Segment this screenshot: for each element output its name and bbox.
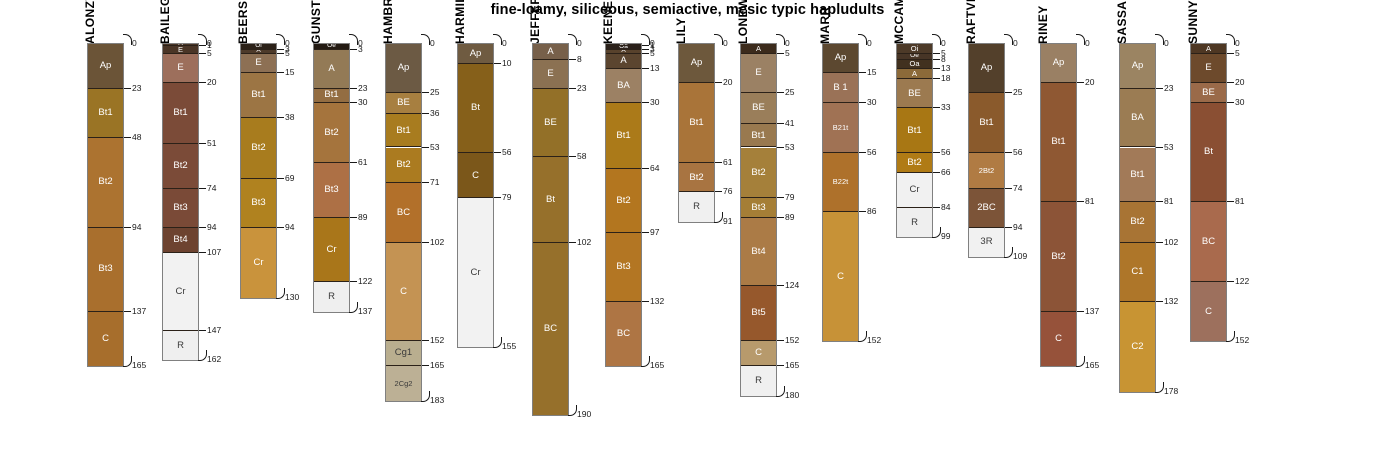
- soil-horizon: E: [241, 54, 276, 74]
- soil-horizon: Cr: [241, 228, 276, 298]
- profile-name-label: LONEWOOD: [736, 0, 750, 44]
- horizon-label: Bt3: [98, 264, 112, 274]
- depth-tick: [1004, 247, 1013, 258]
- horizon-label: Oa: [909, 60, 919, 68]
- depth-tick: [350, 281, 357, 282]
- depth-label: 94: [207, 223, 216, 232]
- depth-label: 152: [1235, 336, 1249, 345]
- horizon-label: BE: [544, 118, 557, 128]
- depth-tick: [494, 152, 501, 153]
- soil-horizon: Bt2: [1120, 202, 1155, 243]
- depth-tick: [1156, 242, 1163, 243]
- soil-horizon: A: [897, 69, 932, 79]
- horizon-label: Bt4: [173, 235, 187, 245]
- profile-bar: OeABt1Bt2Bt3CrR: [313, 43, 350, 313]
- depth-tick: [1156, 88, 1163, 89]
- horizon-label: BC: [544, 324, 557, 334]
- profile-name-label: SUNNYSIDE: [1186, 0, 1200, 44]
- depth-tick: [642, 232, 649, 233]
- soil-horizon: Bt1: [679, 83, 714, 163]
- depth-label: 81: [1235, 197, 1244, 206]
- soil-horizon: E: [533, 60, 568, 89]
- depth-label: 20: [723, 78, 732, 87]
- horizon-label: Bt1: [1051, 137, 1065, 147]
- depth-tick: [1077, 311, 1084, 312]
- profile-bar: ApB 1B21tB22tC: [822, 43, 859, 342]
- depth-label: 74: [1013, 184, 1022, 193]
- depth-label: 81: [1085, 197, 1094, 206]
- depth-tick: [199, 82, 206, 83]
- horizon-label: 3R: [980, 237, 992, 247]
- soil-horizon: Bt2: [606, 169, 641, 233]
- depth-label: 102: [1164, 238, 1178, 247]
- horizon-label: A: [328, 64, 334, 74]
- depth-label: 0: [577, 39, 582, 48]
- horizon-label: BE: [908, 89, 921, 99]
- soil-horizon: BE: [386, 93, 421, 114]
- depth-label: 5: [785, 49, 790, 58]
- horizon-label: Bt2: [251, 143, 265, 153]
- depth-label: 53: [430, 143, 439, 152]
- depth-tick: [933, 59, 940, 60]
- depth-label: 137: [358, 307, 372, 316]
- depth-label: 23: [132, 84, 141, 93]
- depth-tick: [933, 107, 940, 108]
- profile-name-label: GUNSTOCK: [309, 0, 323, 44]
- depth-tick: [858, 331, 867, 342]
- depth-tick: [349, 34, 358, 45]
- depth-tick: [199, 227, 206, 228]
- depth-label: 152: [785, 336, 799, 345]
- horizon-label: Bt1: [251, 90, 265, 100]
- soil-horizon: Bt1: [163, 83, 198, 144]
- depth-label: 91: [723, 217, 732, 226]
- depth-label: 56: [502, 148, 511, 157]
- depth-tick: [350, 49, 357, 50]
- depth-label: 38: [285, 113, 294, 122]
- depth-label: 51: [207, 139, 216, 148]
- profile-name-label: RINEY: [1036, 5, 1050, 44]
- depth-label: 165: [785, 361, 799, 370]
- soil-horizon: Cr: [897, 173, 932, 208]
- depth-label: 86: [867, 207, 876, 216]
- soil-horizon: Bt1: [386, 114, 421, 147]
- depth-label: 71: [430, 178, 439, 187]
- horizon-label: Bt2: [324, 128, 338, 138]
- horizon-label: Bt5: [751, 308, 765, 318]
- depth-label: 61: [723, 158, 732, 167]
- horizon-label: 2Cg2: [395, 380, 413, 388]
- horizon-label: Bt2: [616, 196, 630, 206]
- soil-horizon: Bt2: [741, 148, 776, 199]
- depth-tick: [715, 82, 722, 83]
- horizon-label: BC: [617, 329, 630, 339]
- soil-horizon: Bt2: [241, 118, 276, 179]
- depth-label: 94: [132, 223, 141, 232]
- depth-tick: [1076, 356, 1085, 367]
- soil-horizon: Cr: [458, 198, 493, 346]
- depth-tick: [199, 330, 206, 331]
- soil-horizon: Bt2: [897, 153, 932, 173]
- soil-horizon: Cr: [314, 218, 349, 282]
- soil-horizon: BE: [1191, 83, 1226, 103]
- soil-horizon: Bt2: [386, 148, 421, 183]
- depth-tick: [493, 337, 502, 348]
- soil-horizon: Ap: [88, 44, 123, 89]
- depth-tick: [777, 53, 784, 54]
- depth-tick: [569, 59, 576, 60]
- depth-tick: [932, 34, 941, 45]
- depth-label: 107: [207, 248, 221, 257]
- depth-tick: [1226, 34, 1235, 45]
- depth-label: 89: [785, 213, 794, 222]
- depth-tick: [276, 288, 285, 299]
- profile-bar: AEBEBt1Bt2Bt3Bt4Bt5CR: [740, 43, 777, 397]
- soil-horizon: E: [163, 46, 198, 54]
- depth-label: 178: [1164, 387, 1178, 396]
- depth-tick: [568, 405, 577, 416]
- depth-tick: [1005, 227, 1012, 228]
- profile-bar: AEBEBtBC: [532, 43, 569, 416]
- depth-label: 122: [1235, 277, 1249, 286]
- depth-label: 0: [1235, 39, 1240, 48]
- depth-label: 0: [723, 39, 728, 48]
- depth-tick: [715, 191, 722, 192]
- horizon-label: E: [177, 63, 183, 73]
- depth-tick: [1077, 201, 1084, 202]
- depth-label: 124: [785, 281, 799, 290]
- horizon-label: Ap: [1132, 61, 1144, 71]
- depth-tick: [1227, 201, 1234, 202]
- soil-horizon: A: [533, 44, 568, 60]
- depth-label: 20: [1235, 78, 1244, 87]
- horizon-label: 2Bt2: [979, 167, 994, 175]
- horizon-label: Cg1: [395, 348, 412, 358]
- depth-tick: [199, 188, 206, 189]
- soil-horizon: BA: [1120, 89, 1155, 148]
- horizon-label: R: [911, 218, 918, 228]
- depth-label: 81: [1164, 197, 1173, 206]
- depth-tick: [777, 123, 784, 124]
- soil-horizon: Bt1: [741, 124, 776, 147]
- depth-tick: [422, 113, 429, 114]
- depth-label: 48: [132, 133, 141, 142]
- depth-tick: [198, 350, 207, 361]
- depth-tick: [641, 34, 650, 45]
- soil-horizon: Bt1: [969, 93, 1004, 154]
- soil-horizon: C: [88, 312, 123, 367]
- profile-bar: OiAEBt1Bt2Bt3Cr: [240, 43, 277, 299]
- depth-label: 30: [358, 98, 367, 107]
- depth-tick: [277, 117, 284, 118]
- depth-tick: [277, 178, 284, 179]
- soil-horizon: Oa: [897, 60, 932, 70]
- depth-label: 152: [867, 336, 881, 345]
- depth-label: 97: [650, 228, 659, 237]
- horizon-label: Ap: [1053, 58, 1065, 68]
- depth-tick: [933, 152, 940, 153]
- depth-tick: [714, 34, 723, 45]
- profile-name-label: KEENER: [601, 0, 615, 44]
- horizon-label: BA: [617, 81, 630, 91]
- soil-horizon: R: [314, 282, 349, 311]
- soil-horizon: Cg1: [386, 341, 421, 366]
- soil-horizon: B21t: [823, 103, 858, 154]
- soil-horizon: Ap: [969, 44, 1004, 93]
- horizon-label: Bt: [546, 195, 555, 205]
- horizon-label: Bt4: [751, 247, 765, 257]
- depth-tick: [933, 78, 940, 79]
- depth-label: 25: [1013, 88, 1022, 97]
- depth-label: 0: [430, 39, 435, 48]
- depth-label: 132: [1164, 297, 1178, 306]
- depth-tick: [933, 207, 940, 208]
- depth-tick: [494, 197, 501, 198]
- horizon-label: R: [755, 376, 762, 386]
- depth-label: 0: [1164, 39, 1169, 48]
- horizon-label: B22t: [833, 178, 848, 186]
- soil-horizon: Bt1: [1041, 83, 1076, 202]
- horizon-label: Bt1: [324, 90, 338, 100]
- depth-tick: [859, 72, 866, 73]
- soil-horizon: R: [741, 366, 776, 395]
- soil-horizon: BA: [606, 69, 641, 102]
- horizon-label: C2: [1131, 342, 1143, 352]
- depth-tick: [777, 147, 784, 148]
- depth-label: 130: [285, 293, 299, 302]
- depth-label: 30: [1235, 98, 1244, 107]
- depth-label: 99: [941, 232, 950, 241]
- horizon-label: Bt3: [616, 262, 630, 272]
- depth-tick: [642, 49, 649, 50]
- horizon-label: Bt2: [396, 160, 410, 170]
- depth-label: 94: [1013, 223, 1022, 232]
- depth-tick: [642, 168, 649, 169]
- depth-tick: [642, 301, 649, 302]
- horizon-label: Bt1: [98, 108, 112, 118]
- depth-label: 23: [1164, 84, 1173, 93]
- soil-horizon: C: [1041, 312, 1076, 367]
- horizon-label: Cr: [470, 268, 480, 278]
- depth-tick: [859, 152, 866, 153]
- depth-tick: [1156, 301, 1163, 302]
- depth-label: 64: [650, 164, 659, 173]
- depth-label: 23: [577, 84, 586, 93]
- soil-horizon: Ap: [1120, 44, 1155, 89]
- soil-horizon: BE: [897, 79, 932, 108]
- soil-horizon: 3R: [969, 228, 1004, 257]
- depth-label: 61: [358, 158, 367, 167]
- soil-horizon: Bt5: [741, 286, 776, 341]
- depth-tick: [777, 365, 784, 366]
- soil-horizon: Ap: [679, 44, 714, 83]
- depth-tick: [776, 386, 785, 397]
- depth-tick: [777, 340, 784, 341]
- depth-tick: [350, 102, 357, 103]
- depth-label: 41: [785, 119, 794, 128]
- horizon-label: Bt2: [1130, 217, 1144, 227]
- depth-label: 147: [207, 326, 221, 335]
- depth-tick: [568, 34, 577, 45]
- depth-tick: [642, 68, 649, 69]
- depth-tick: [277, 227, 284, 228]
- horizon-label: C: [400, 287, 407, 297]
- horizon-label: Oe: [327, 44, 336, 50]
- horizon-label: Bt1: [616, 131, 630, 141]
- depth-tick: [1155, 34, 1164, 45]
- depth-tick: [933, 68, 940, 69]
- horizon-label: BA: [1131, 113, 1144, 123]
- soil-horizon: E: [1191, 54, 1226, 83]
- depth-label: 0: [132, 39, 137, 48]
- depth-label: 74: [207, 184, 216, 193]
- depth-tick: [1156, 147, 1163, 148]
- depth-label: 137: [132, 307, 146, 316]
- soil-horizon: Bt2: [163, 144, 198, 189]
- depth-label: 69: [285, 174, 294, 183]
- horizon-label: E: [547, 69, 553, 79]
- soil-horizon: E: [741, 54, 776, 93]
- horizon-label: Cr: [909, 185, 919, 195]
- depth-tick: [124, 311, 131, 312]
- profile-bar: OeOaAABABt1Bt2Bt3BC: [605, 43, 642, 367]
- depth-label: 5: [650, 49, 655, 58]
- horizon-label: Bt1: [979, 118, 993, 128]
- horizon-label: C: [472, 171, 479, 181]
- horizon-label: Bt1: [907, 126, 921, 136]
- depth-tick: [858, 34, 867, 45]
- soil-horizon: BC: [386, 183, 421, 244]
- depth-label: 94: [285, 223, 294, 232]
- depth-label: 102: [577, 238, 591, 247]
- depth-tick: [1227, 53, 1234, 54]
- depth-label: 25: [785, 88, 794, 97]
- soil-horizon: C: [458, 153, 493, 198]
- depth-label: 152: [430, 336, 444, 345]
- depth-label: 190: [577, 410, 591, 419]
- horizon-label: A: [547, 47, 553, 57]
- soil-horizon: BC: [1191, 202, 1226, 282]
- depth-label: 183: [430, 396, 444, 405]
- depth-label: 30: [867, 98, 876, 107]
- horizon-label: 2BC: [977, 203, 995, 213]
- depth-label: 165: [650, 361, 664, 370]
- soil-horizon: C: [741, 341, 776, 366]
- depth-label: 15: [867, 68, 876, 77]
- horizon-label: Oi: [911, 45, 919, 53]
- horizon-label: Ap: [835, 53, 847, 63]
- soil-horizon: Bt1: [241, 73, 276, 118]
- horizon-label: Ap: [691, 58, 703, 68]
- horizon-label: Bt3: [251, 198, 265, 208]
- soil-horizon: 2Cg2: [386, 366, 421, 401]
- profile-bar: OiOeOaABEBt1Bt2CrR: [896, 43, 933, 238]
- horizon-label: Bt1: [751, 131, 765, 141]
- soil-horizon: Bt: [1191, 103, 1226, 203]
- depth-tick: [1227, 281, 1234, 282]
- depth-label: 20: [1085, 78, 1094, 87]
- depth-label: 56: [941, 148, 950, 157]
- depth-tick: [124, 227, 131, 228]
- horizon-label: C: [1205, 307, 1212, 317]
- profile-bar: ApBt1Bt2C: [1040, 43, 1077, 367]
- depth-tick: [933, 172, 940, 173]
- horizon-label: BE: [752, 103, 765, 113]
- depth-label: 58: [577, 152, 586, 161]
- depth-tick: [199, 143, 206, 144]
- depth-label: 0: [502, 39, 507, 48]
- soil-horizon: Oi: [897, 44, 932, 54]
- depth-tick: [777, 92, 784, 93]
- horizon-label: C: [755, 348, 762, 358]
- horizon-label: A: [912, 70, 917, 78]
- depth-tick: [1156, 201, 1163, 202]
- soil-horizon: 2BC: [969, 189, 1004, 228]
- soil-horizon: Bt4: [163, 228, 198, 253]
- depth-label: 0: [1085, 39, 1090, 48]
- depth-tick: [777, 285, 784, 286]
- horizon-label: Ap: [398, 63, 410, 73]
- horizon-label: BE: [397, 98, 410, 108]
- soil-horizon: A: [741, 44, 776, 54]
- profile-name-label: BAILEGAP: [158, 0, 172, 44]
- depth-label: 76: [723, 187, 732, 196]
- depth-tick: [777, 197, 784, 198]
- depth-tick: [859, 102, 866, 103]
- soil-horizon: 2Bt2: [969, 153, 1004, 188]
- depth-label: 137: [1085, 307, 1099, 316]
- depth-label: 53: [1164, 143, 1173, 152]
- depth-tick: [199, 53, 206, 54]
- depth-tick: [932, 227, 941, 238]
- depth-label: 30: [650, 98, 659, 107]
- profile-bar: AEBEBtBCC: [1190, 43, 1227, 342]
- horizon-label: C: [102, 334, 109, 344]
- soil-horizon: BC: [606, 302, 641, 366]
- soil-horizon: Bt1: [88, 89, 123, 138]
- profile-name-label: MARR: [818, 6, 832, 44]
- depth-tick: [198, 34, 207, 45]
- depth-tick: [422, 92, 429, 93]
- depth-label: 0: [785, 39, 790, 48]
- depth-label: 23: [358, 84, 367, 93]
- soil-profile-chart: fine-loamy, siliceous, semiactive, mesic…: [0, 0, 1375, 450]
- depth-tick: [569, 88, 576, 89]
- depth-tick: [1005, 92, 1012, 93]
- soil-horizon: C2: [1120, 302, 1155, 392]
- soil-horizon: A: [1191, 44, 1226, 54]
- depth-label: 3: [358, 45, 363, 54]
- depth-tick: [777, 217, 784, 218]
- soil-horizon: A: [314, 50, 349, 89]
- depth-tick: [124, 137, 131, 138]
- depth-label: 66: [941, 168, 950, 177]
- horizon-label: C1: [1131, 267, 1143, 277]
- soil-horizon: Bt3: [241, 179, 276, 228]
- horizon-label: BC: [1202, 237, 1215, 247]
- horizon-label: Oi: [255, 44, 262, 50]
- depth-label: 132: [650, 297, 664, 306]
- soil-horizon: Ap: [1041, 44, 1076, 83]
- depth-label: 122: [358, 277, 372, 286]
- soil-horizon: Bt1: [314, 89, 349, 103]
- horizon-label: E: [1205, 63, 1211, 73]
- depth-tick: [859, 211, 866, 212]
- horizon-label: Ap: [981, 63, 993, 73]
- depth-tick: [199, 252, 206, 253]
- depth-tick: [494, 63, 501, 64]
- horizon-label: Bt1: [689, 118, 703, 128]
